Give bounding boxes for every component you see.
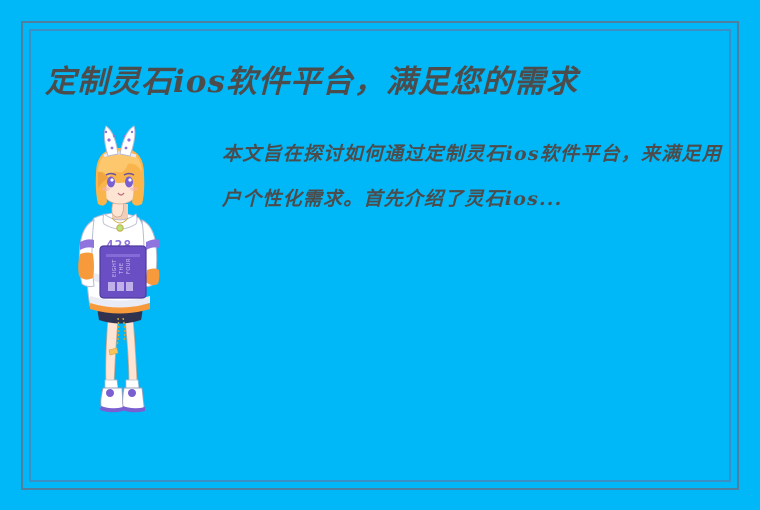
article-summary: 本文旨在探讨如何通过定制灵石ios软件平台，来满足用户个性化需求。首先介绍了灵石… (222, 132, 722, 222)
page-title: 定制灵石ios软件平台，满足您的需求 (45, 60, 715, 104)
svg-text:THE: THE (119, 263, 125, 275)
article-card: 定制灵石ios软件平台，满足您的需求 (0, 0, 760, 510)
svg-text:FOUR: FOUR (126, 258, 132, 274)
svg-text:EIGHT: EIGHT (112, 259, 118, 277)
anime-girl-character-illustration: 428 FOUR THE EIGHT (68, 122, 172, 422)
